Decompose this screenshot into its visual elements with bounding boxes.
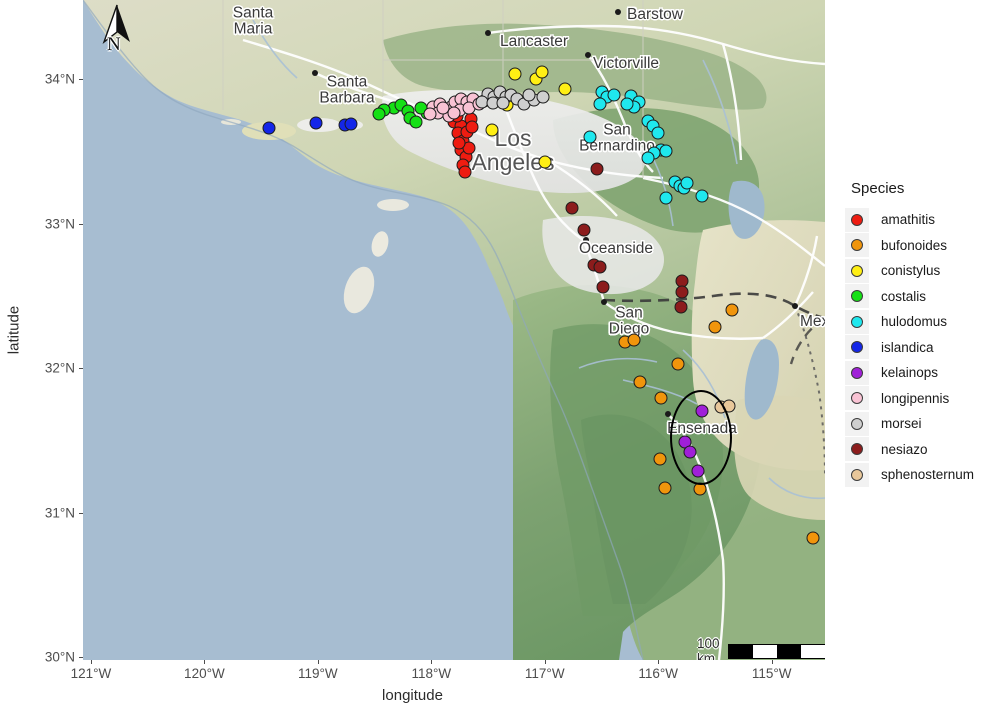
legend-item-morsei[interactable]: morsei — [845, 411, 984, 437]
x-tick-mark — [545, 660, 546, 664]
legend-dot-icon — [851, 214, 863, 226]
legend-key-swatch — [845, 386, 869, 410]
species-point-bufonoides — [807, 532, 820, 545]
x-tick-label: 119°W — [298, 666, 338, 681]
legend-dot-icon — [851, 469, 863, 481]
species-point-hulodomus — [621, 98, 634, 111]
x-tick-mark — [318, 660, 319, 664]
y-tick-mark — [79, 513, 83, 514]
species-point-hulodomus — [642, 152, 655, 165]
legend-label: kelainops — [881, 365, 938, 380]
legend-item-longipennis[interactable]: longipennis — [845, 386, 984, 412]
species-point-amathitis — [466, 121, 479, 134]
species-point-bufonoides — [726, 304, 739, 317]
legend-title: Species — [851, 180, 984, 197]
kelainops-highlight-ellipse — [670, 390, 732, 485]
city-marker-dot — [583, 237, 589, 243]
legend-dot-icon — [851, 290, 863, 302]
scale-bar-segment — [777, 645, 801, 658]
legend-label: longipennis — [881, 391, 949, 406]
legend-key-swatch — [845, 233, 869, 257]
species-point-conistylus — [536, 66, 549, 79]
legend-item-nesiazo[interactable]: nesiazo — [845, 437, 984, 463]
species-point-islandica — [310, 117, 323, 130]
map-figure: Santa MariaBarstowLancasterVictorvilleSa… — [0, 0, 984, 711]
x-tick-mark — [658, 660, 659, 664]
scale-bar-segment — [729, 645, 753, 658]
y-tick-mark — [79, 79, 83, 80]
legend-item-costalis[interactable]: costalis — [845, 284, 984, 310]
scale-bar: 100 km — [697, 636, 825, 660]
city-marker-dot — [792, 303, 798, 309]
x-tick-mark — [91, 660, 92, 664]
species-point-bufonoides — [655, 392, 668, 405]
city-marker-dot — [615, 9, 621, 15]
north-arrow-label: N — [107, 34, 121, 56]
x-tick-mark — [772, 660, 773, 664]
species-point-islandica — [345, 118, 358, 131]
city-marker-dot — [665, 411, 671, 417]
species-point-longipennis — [424, 108, 437, 121]
legend-dot-icon — [851, 316, 863, 328]
species-point-hulodomus — [652, 127, 665, 140]
species-point-nesiazo — [594, 261, 607, 274]
species-point-costalis — [410, 116, 423, 129]
species-point-morsei — [537, 91, 550, 104]
species-point-costalis — [373, 108, 386, 121]
legend-dot-icon — [851, 367, 863, 379]
x-tick-label: 116°W — [638, 666, 678, 681]
x-tick-label: 121°W — [71, 666, 112, 681]
legend-key-swatch — [845, 259, 869, 283]
legend-label: amathitis — [881, 212, 935, 227]
species-point-nesiazo — [591, 163, 604, 176]
city-marker-dot — [585, 52, 591, 58]
legend-key-swatch — [845, 412, 869, 436]
species-point-bufonoides — [672, 358, 685, 371]
species-point-bufonoides — [659, 482, 672, 495]
species-point-bufonoides — [628, 334, 641, 347]
legend-key-swatch — [845, 208, 869, 232]
legend-item-islandica[interactable]: islandica — [845, 335, 984, 361]
species-point-bufonoides — [634, 376, 647, 389]
y-tick-label: 30°N — [20, 650, 75, 665]
y-tick-mark — [79, 224, 83, 225]
species-point-conistylus — [509, 68, 522, 81]
species-point-hulodomus — [681, 177, 694, 190]
x-tick-mark — [431, 660, 432, 664]
scale-bar-label: 100 km — [697, 636, 720, 660]
species-point-nesiazo — [676, 286, 689, 299]
species-point-conistylus — [539, 156, 552, 169]
legend-label: morsei — [881, 416, 922, 431]
species-point-hulodomus — [594, 98, 607, 111]
legend-dot-icon — [851, 392, 863, 404]
legend-label: sphenosternum — [881, 467, 974, 482]
species-point-bufonoides — [709, 321, 722, 334]
x-tick-label: 120°W — [184, 666, 225, 681]
legend-dot-icon — [851, 341, 863, 353]
species-point-hulodomus — [584, 131, 597, 144]
legend-key-swatch — [845, 361, 869, 385]
legend-dot-icon — [851, 418, 863, 430]
legend-label: hulodomus — [881, 314, 947, 329]
species-point-hulodomus — [696, 190, 709, 203]
legend-dot-icon — [851, 265, 863, 277]
species-point-hulodomus — [608, 89, 621, 102]
species-point-nesiazo — [578, 224, 591, 237]
species-point-hulodomus — [660, 192, 673, 205]
x-tick-label: 117°W — [525, 666, 565, 681]
x-tick-label: 118°W — [411, 666, 451, 681]
species-point-amathitis — [453, 137, 466, 150]
species-point-bufonoides — [654, 453, 667, 466]
y-axis-title: latitude — [6, 306, 23, 354]
legend-item-kelainops[interactable]: kelainops — [845, 360, 984, 386]
species-point-nesiazo — [566, 202, 579, 215]
scale-bar-segment — [801, 645, 825, 658]
legend-item-hulodomus[interactable]: hulodomus — [845, 309, 984, 335]
y-tick-label: 32°N — [20, 361, 75, 376]
species-point-nesiazo — [597, 281, 610, 294]
legend-item-bufonoides[interactable]: bufonoides — [845, 233, 984, 259]
y-tick-mark — [79, 368, 83, 369]
x-tick-mark — [204, 660, 205, 664]
legend-key-swatch — [845, 284, 869, 308]
x-tick-label: 115°W — [752, 666, 792, 681]
city-marker-dot — [485, 30, 491, 36]
legend-item-sphenosternum[interactable]: sphenosternum — [845, 462, 984, 488]
species-point-morsei — [523, 89, 536, 102]
legend-dot-icon — [851, 443, 863, 455]
species-point-conistylus — [559, 83, 572, 96]
city-marker-dot — [312, 70, 318, 76]
y-tick-label: 33°N — [20, 216, 75, 231]
legend-rows: amathitisbufonoidesconistyluscostalishul… — [845, 207, 984, 488]
scale-bar-segments — [728, 644, 825, 659]
x-axis-title: longitude — [0, 687, 825, 704]
legend-label: nesiazo — [881, 442, 928, 457]
y-tick-label: 34°N — [20, 72, 75, 87]
species-point-morsei — [497, 97, 510, 110]
legend-item-conistylus[interactable]: conistylus — [845, 258, 984, 284]
species-point-longipennis — [448, 107, 461, 120]
species-point-conistylus — [486, 124, 499, 137]
y-tick-label: 31°N — [20, 505, 75, 520]
legend-dot-icon — [851, 239, 863, 251]
legend-label: conistylus — [881, 263, 940, 278]
city-marker-dot — [601, 299, 607, 305]
legend-key-swatch — [845, 463, 869, 487]
legend-key-swatch — [845, 335, 869, 359]
y-tick-mark — [79, 657, 83, 658]
legend-item-amathitis[interactable]: amathitis — [845, 207, 984, 233]
species-point-nesiazo — [675, 301, 688, 314]
legend-label: costalis — [881, 289, 926, 304]
legend-key-swatch — [845, 437, 869, 461]
scale-bar-segment — [753, 645, 777, 658]
species-point-islandica — [263, 122, 276, 135]
north-arrow: N — [96, 4, 138, 62]
species-point-hulodomus — [660, 145, 673, 158]
map-panel[interactable]: Santa MariaBarstowLancasterVictorvilleSa… — [83, 0, 825, 660]
legend-label: islandica — [881, 340, 934, 355]
legend-key-swatch — [845, 310, 869, 334]
legend-label: bufonoides — [881, 238, 947, 253]
species-point-amathitis — [459, 166, 472, 179]
legend: Species amathitisbufonoidesconistyluscos… — [845, 180, 984, 488]
